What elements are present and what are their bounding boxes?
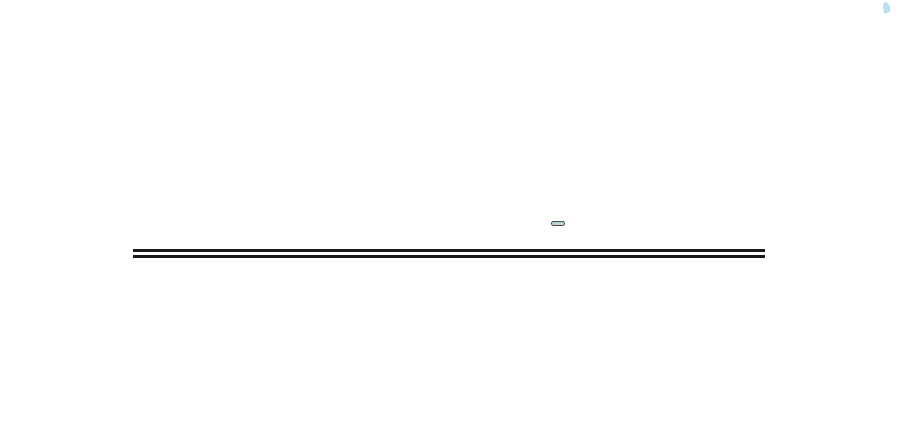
- snapgene-watermark: [880, 2, 893, 13]
- plasmid-map-canvas: [0, 0, 899, 433]
- lac-operator-badge[interactable]: [551, 221, 565, 226]
- snapgene-leaf-icon: [882, 1, 891, 13]
- sequence-backbone-inner: [133, 252, 765, 255]
